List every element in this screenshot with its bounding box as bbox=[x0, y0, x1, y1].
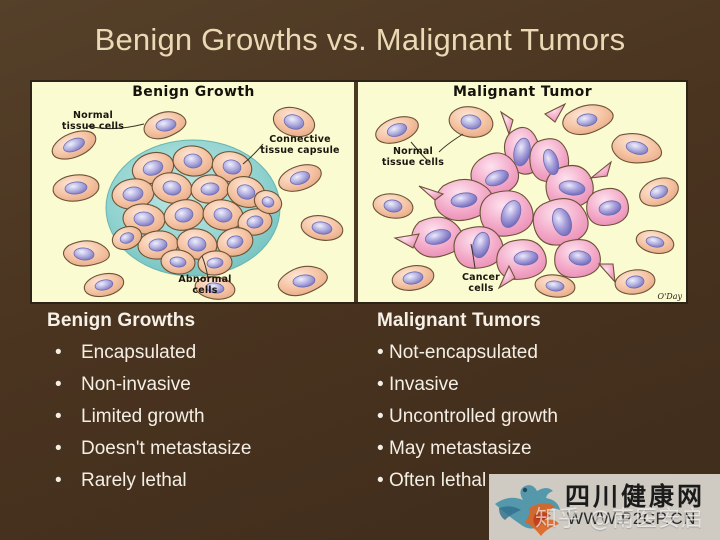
benign-growths-column: Benign Growths • Encapsulated • Non-inva… bbox=[47, 310, 347, 497]
list-item-label: Non-invasive bbox=[81, 374, 191, 395]
list-item: • May metastasize bbox=[377, 433, 697, 465]
list-item: • Encapsulated bbox=[47, 337, 347, 369]
list-item-label: Encapsulated bbox=[81, 342, 196, 363]
benign-growths-list: • Encapsulated • Non-invasive • Limited … bbox=[47, 337, 347, 497]
list-item-label: Uncontrolled growth bbox=[389, 406, 558, 427]
page-title: Benign Growths vs. Malignant Tumors bbox=[0, 22, 720, 58]
watermark-banner: 四川健康网 WWW.P2CP.CN 知乎 @南医安启 bbox=[489, 474, 720, 540]
label-connective-tissue-capsule: Connective tissue capsule bbox=[250, 134, 350, 156]
bullet-icon: • bbox=[55, 369, 62, 401]
bullet-icon: • bbox=[55, 337, 62, 369]
label-normal-tissue-cells-benign: Normal tissue cells bbox=[50, 110, 136, 132]
list-item: • Doesn't metastasize bbox=[47, 433, 347, 465]
bullet-icon: • bbox=[55, 465, 62, 497]
slide-canvas: Benign Growths vs. Malignant Tumors Beni… bbox=[0, 0, 720, 540]
list-item-label: Not-encapsulated bbox=[389, 342, 538, 363]
list-item-label: May metastasize bbox=[389, 438, 532, 459]
list-item-label: Often lethal bbox=[389, 470, 486, 491]
label-normal-tissue-cells-malignant: Normal tissue cells bbox=[373, 146, 453, 168]
bullet-icon: • bbox=[377, 337, 384, 369]
panel-divider bbox=[354, 82, 358, 302]
malignant-tumor-panel: Malignant Tumor bbox=[359, 82, 686, 302]
bullet-icon: • bbox=[55, 433, 62, 465]
malignant-panel-caption: Malignant Tumor bbox=[359, 84, 686, 100]
bullet-icon: • bbox=[377, 369, 384, 401]
malignant-tumors-column: Malignant Tumors • Not-encapsulated • In… bbox=[377, 310, 697, 497]
malignant-tumor-illustration bbox=[359, 82, 686, 302]
benign-growth-panel: Benign Growth bbox=[32, 82, 355, 302]
benign-growths-heading: Benign Growths bbox=[47, 310, 347, 332]
list-item: • Uncontrolled growth bbox=[377, 401, 697, 433]
list-item: • Non-invasive bbox=[47, 369, 347, 401]
list-item-label: Rarely lethal bbox=[81, 470, 187, 491]
list-item: • Invasive bbox=[377, 369, 697, 401]
list-item: • Limited growth bbox=[47, 401, 347, 433]
bullet-icon: • bbox=[55, 401, 62, 433]
list-item: • Rarely lethal bbox=[47, 465, 347, 497]
zhihu-overlay-text: 知乎 @南医安启 bbox=[535, 501, 704, 533]
artist-signature: O'Day bbox=[658, 292, 682, 301]
bullet-icon: • bbox=[377, 433, 384, 465]
label-cancer-cells: Cancer cells bbox=[445, 272, 517, 294]
list-item: • Not-encapsulated bbox=[377, 337, 697, 369]
malignant-tumors-heading: Malignant Tumors bbox=[377, 310, 697, 332]
malignant-tumors-list: • Not-encapsulated • Invasive • Uncontro… bbox=[377, 337, 697, 497]
benign-panel-caption: Benign Growth bbox=[32, 84, 355, 100]
list-item-label: Limited growth bbox=[81, 406, 205, 427]
list-item-label: Doesn't metastasize bbox=[81, 438, 251, 459]
bullet-icon: • bbox=[377, 465, 384, 497]
label-abnormal-cells: Abnormal cells bbox=[160, 274, 250, 296]
comparison-figure: Benign Growth bbox=[30, 80, 688, 304]
list-item-label: Invasive bbox=[389, 374, 459, 395]
bullet-icon: • bbox=[377, 401, 384, 433]
